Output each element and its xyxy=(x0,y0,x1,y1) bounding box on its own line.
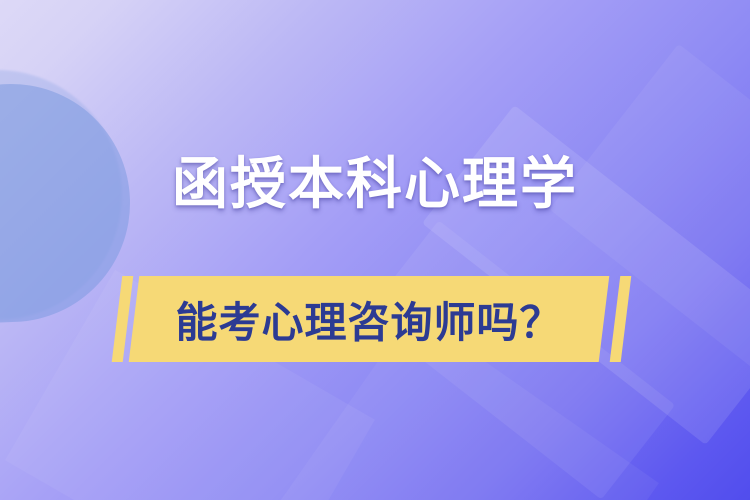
yellow-accent-bar-right xyxy=(610,276,632,362)
banner-subtitle-group: 能考心理咨询师吗？ xyxy=(0,276,750,362)
banner-canvas: 函授本科心理学 能考心理咨询师吗？ xyxy=(0,0,750,500)
banner-subtitle: 能考心理咨询师吗？ xyxy=(134,276,604,362)
banner-headline: 函授本科心理学 xyxy=(0,156,750,212)
decorative-shape-layer xyxy=(0,0,750,500)
